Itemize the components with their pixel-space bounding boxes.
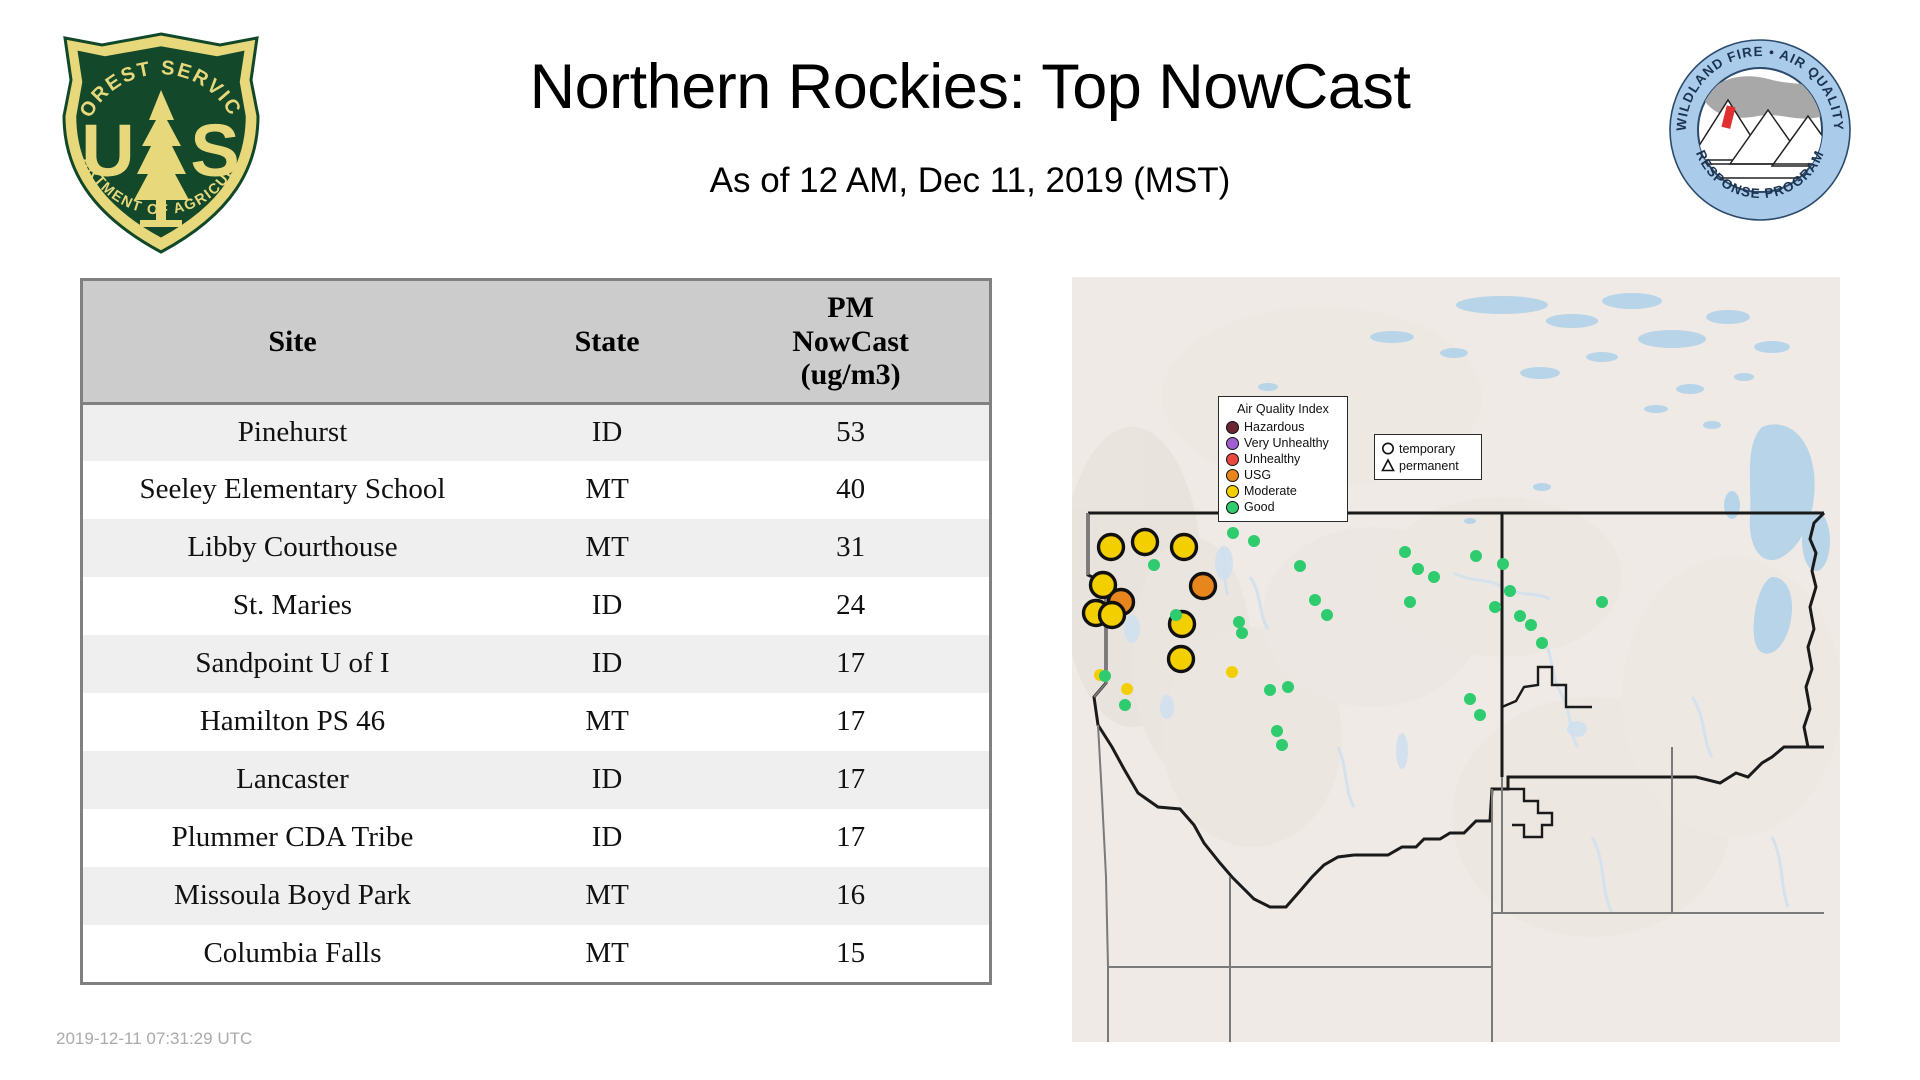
aqi-legend-item: Hazardous	[1226, 419, 1340, 435]
slide-canvas: FOREST SERVICE DEPARTMENT OF AGRICULTURE…	[0, 0, 1920, 1080]
table-header-row: Site State PM NowCast (ug/m3)	[82, 280, 991, 404]
svg-text:S: S	[190, 109, 239, 192]
monitor-marker[interactable]	[1148, 559, 1160, 571]
pm-cell: 17	[712, 635, 990, 693]
table-row: Sandpoint U of IID17	[82, 635, 991, 693]
monitor-marker[interactable]	[1294, 560, 1306, 572]
title-block: Northern Rockies: Top NowCast As of 12 A…	[300, 52, 1640, 201]
site-cell: Lancaster	[82, 751, 502, 809]
aqi-legend-item: Very Unhealthy	[1226, 435, 1340, 451]
site-cell: Sandpoint U of I	[82, 635, 502, 693]
column-header-pm-nowcast: PM NowCast (ug/m3)	[712, 280, 990, 404]
monitor-marker[interactable]	[1470, 550, 1482, 562]
monitor-marker[interactable]	[1428, 571, 1440, 583]
aqi-swatch-icon	[1226, 485, 1239, 498]
nowcast-table-container: Site State PM NowCast (ug/m3) PinehurstI…	[80, 278, 992, 985]
site-cell: Pinehurst	[82, 403, 502, 461]
state-cell: MT	[502, 693, 712, 751]
site-type-permanent-row: permanent	[1381, 457, 1475, 474]
monitor-marker[interactable]	[1233, 616, 1245, 628]
table-row: Missoula Boyd ParkMT16	[82, 867, 991, 925]
monitor-marker[interactable]	[1191, 574, 1216, 599]
monitor-marker[interactable]	[1236, 627, 1248, 639]
state-cell: ID	[502, 577, 712, 635]
monitor-marker[interactable]	[1489, 601, 1501, 613]
table-row: Plummer CDA TribeID17	[82, 809, 991, 867]
site-cell: St. Maries	[82, 577, 502, 635]
svg-text:U: U	[81, 109, 134, 192]
site-cell: Missoula Boyd Park	[82, 867, 502, 925]
pm-cell: 15	[712, 925, 990, 983]
monitor-marker[interactable]	[1497, 558, 1509, 570]
monitor-marker[interactable]	[1172, 535, 1197, 560]
monitor-marker[interactable]	[1170, 609, 1182, 621]
monitor-marker[interactable]	[1596, 596, 1608, 608]
monitor-marker[interactable]	[1133, 530, 1158, 555]
pm-cell: 40	[712, 461, 990, 519]
aqi-legend-label: Moderate	[1244, 485, 1297, 498]
forest-service-logo: FOREST SERVICE DEPARTMENT OF AGRICULTURE…	[52, 28, 270, 258]
monitor-marker[interactable]	[1525, 619, 1537, 631]
aqi-legend-item: Unhealthy	[1226, 451, 1340, 467]
monitor-marker[interactable]	[1309, 594, 1321, 606]
table-head: Site State PM NowCast (ug/m3)	[82, 280, 991, 404]
monitor-marker[interactable]	[1321, 609, 1333, 621]
pm-header-line-2: NowCast	[716, 325, 985, 359]
aqi-legend-item: Good	[1226, 499, 1340, 515]
aqi-legend: Air Quality Index HazardousVery Unhealth…	[1218, 396, 1348, 522]
state-cell: MT	[502, 867, 712, 925]
site-cell: Hamilton PS 46	[82, 693, 502, 751]
aqi-legend-label: Hazardous	[1244, 421, 1304, 434]
state-cell: MT	[502, 925, 712, 983]
monitor-marker[interactable]	[1226, 666, 1238, 678]
aqi-legend-label: USG	[1244, 469, 1271, 482]
table-body: PinehurstID53Seeley Elementary SchoolMT4…	[82, 403, 991, 983]
site-type-legend: temporary permanent	[1374, 434, 1482, 480]
state-cell: MT	[502, 519, 712, 577]
state-cell: MT	[502, 461, 712, 519]
map-graphic	[1072, 277, 1840, 1042]
pm-cell: 24	[712, 577, 990, 635]
permanent-label: permanent	[1399, 459, 1459, 473]
monitor-marker[interactable]	[1248, 535, 1260, 547]
air-quality-map[interactable]: Air Quality Index HazardousVery Unhealth…	[1072, 277, 1840, 1042]
monitor-marker[interactable]	[1121, 683, 1133, 695]
state-cell: ID	[502, 809, 712, 867]
monitor-marker[interactable]	[1404, 596, 1416, 608]
monitor-marker[interactable]	[1099, 535, 1124, 560]
aqi-legend-item: USG	[1226, 467, 1340, 483]
nowcast-table: Site State PM NowCast (ug/m3) PinehurstI…	[80, 278, 992, 985]
aqi-swatch-icon	[1226, 437, 1239, 450]
pm-header-line-3: (ug/m3)	[716, 358, 985, 392]
column-header-state: State	[502, 280, 712, 404]
monitor-marker[interactable]	[1474, 709, 1486, 721]
footer-timestamp: 2019-12-11 07:31:29 UTC	[56, 1029, 252, 1049]
pm-cell: 53	[712, 403, 990, 461]
state-cell: ID	[502, 751, 712, 809]
aqi-legend-label: Unhealthy	[1244, 453, 1300, 466]
temporary-label: temporary	[1399, 442, 1455, 456]
monitor-marker[interactable]	[1464, 693, 1476, 705]
aqi-swatch-icon	[1226, 469, 1239, 482]
forest-service-shield-icon: FOREST SERVICE DEPARTMENT OF AGRICULTURE…	[52, 28, 270, 258]
table-row: Seeley Elementary SchoolMT40	[82, 461, 991, 519]
monitor-marker[interactable]	[1282, 681, 1294, 693]
monitor-marker[interactable]	[1227, 527, 1239, 539]
aqi-swatch-icon	[1226, 453, 1239, 466]
monitor-marker[interactable]	[1276, 739, 1288, 751]
pm-cell: 16	[712, 867, 990, 925]
site-cell: Plummer CDA Tribe	[82, 809, 502, 867]
aqi-swatch-icon	[1226, 421, 1239, 434]
state-cell: ID	[502, 635, 712, 693]
monitor-marker[interactable]	[1504, 585, 1516, 597]
state-cell: ID	[502, 403, 712, 461]
pm-cell: 17	[712, 809, 990, 867]
wildland-fire-air-quality-icon: WILDLAND FIRE • AIR QUALITY RESPONSE PRO…	[1668, 38, 1852, 222]
monitor-marker[interactable]	[1100, 603, 1125, 628]
monitor-marker[interactable]	[1271, 725, 1283, 737]
page-title: Northern Rockies: Top NowCast	[300, 52, 1640, 123]
monitor-marker[interactable]	[1169, 647, 1194, 672]
table-row: LancasterID17	[82, 751, 991, 809]
aqi-swatch-icon	[1226, 501, 1239, 514]
site-cell: Columbia Falls	[82, 925, 502, 983]
column-header-site: Site	[82, 280, 502, 404]
table-row: Hamilton PS 46MT17	[82, 693, 991, 751]
table-row: St. MariesID24	[82, 577, 991, 635]
site-type-temporary-row: temporary	[1381, 440, 1475, 457]
table-row: Libby CourthouseMT31	[82, 519, 991, 577]
page-subtitle: As of 12 AM, Dec 11, 2019 (MST)	[300, 161, 1640, 201]
monitor-marker[interactable]	[1536, 637, 1548, 649]
monitor-marker[interactable]	[1099, 670, 1111, 682]
temporary-circle-icon	[1381, 441, 1395, 456]
monitor-marker[interactable]	[1412, 563, 1424, 575]
site-cell: Libby Courthouse	[82, 519, 502, 577]
aqi-legend-rows: HazardousVery UnhealthyUnhealthyUSGModer…	[1226, 419, 1340, 515]
aqi-legend-item: Moderate	[1226, 483, 1340, 499]
wfaqrp-logo: WILDLAND FIRE • AIR QUALITY RESPONSE PRO…	[1668, 38, 1852, 222]
aqi-legend-title: Air Quality Index	[1226, 402, 1340, 416]
pm-cell: 31	[712, 519, 990, 577]
monitor-marker[interactable]	[1264, 684, 1276, 696]
permanent-triangle-icon	[1381, 458, 1395, 473]
pm-cell: 17	[712, 693, 990, 751]
table-row: PinehurstID53	[82, 403, 991, 461]
aqi-legend-label: Good	[1244, 501, 1275, 514]
pm-cell: 17	[712, 751, 990, 809]
monitor-marker[interactable]	[1514, 610, 1526, 622]
aqi-legend-label: Very Unhealthy	[1244, 437, 1329, 450]
pm-header-line-1: PM	[716, 291, 985, 325]
table-row: Columbia FallsMT15	[82, 925, 991, 983]
monitor-marker[interactable]	[1119, 699, 1131, 711]
site-cell: Seeley Elementary School	[82, 461, 502, 519]
monitor-marker[interactable]	[1399, 546, 1411, 558]
